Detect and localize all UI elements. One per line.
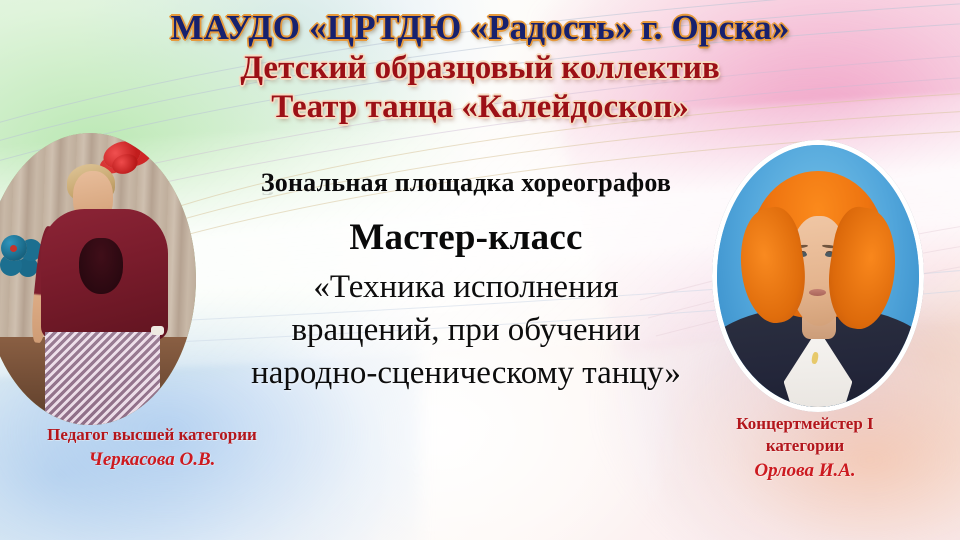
caption-right-role-line2: категории bbox=[660, 435, 950, 457]
poster-canvas: МАУДО «ЦРТДЮ «Радость» г. Орска» Детский… bbox=[0, 0, 960, 540]
quote-line-2: вращений, при обучении bbox=[186, 309, 746, 352]
title-line-theatre: Театр танца «Калейдоскоп» bbox=[0, 90, 960, 124]
poster-title-block: МАУДО «ЦРТДЮ «Радость» г. Орска» Детский… bbox=[0, 10, 960, 124]
title-line-collective: Детский образцовый коллектив bbox=[0, 51, 960, 85]
photo-left-teacher bbox=[0, 133, 196, 425]
quote-line-1: «Техника исполнения bbox=[186, 266, 746, 309]
quote-block: «Техника исполнения вращений, при обучен… bbox=[186, 266, 746, 395]
blue-flower-balloon-icon bbox=[1, 235, 27, 261]
center-content-block: Зональная площадка хореографов Зональная… bbox=[186, 168, 746, 395]
eyebrow-reflection: Зональная площадка хореографов bbox=[186, 190, 746, 199]
caption-right-accompanist: Концертмейстер I категории Орлова И.А. bbox=[660, 413, 950, 482]
teacher-top-owl-motif bbox=[79, 238, 123, 294]
caption-right-name: Орлова И.А. bbox=[660, 460, 950, 482]
accompanist-mouth bbox=[809, 289, 826, 296]
quote-line-3: народно-сценическому танцу» bbox=[186, 352, 746, 395]
caption-left-teacher: Педагог высшей категории Черкасова О.В. bbox=[2, 424, 302, 471]
caption-right-role-line1: Концертмейстер I bbox=[660, 413, 950, 435]
title-line-organization: МАУДО «ЦРТДЮ «Радость» г. Орска» bbox=[0, 10, 960, 46]
photo-left-image bbox=[0, 133, 196, 425]
caption-left-name: Черкасова О.В. bbox=[2, 449, 302, 471]
caption-left-role: Педагог высшей категории bbox=[2, 424, 302, 446]
teacher-wristwatch bbox=[151, 326, 164, 335]
teacher-patterned-skirt bbox=[45, 332, 159, 425]
heading-master-class: Мастер-класс bbox=[186, 216, 746, 259]
